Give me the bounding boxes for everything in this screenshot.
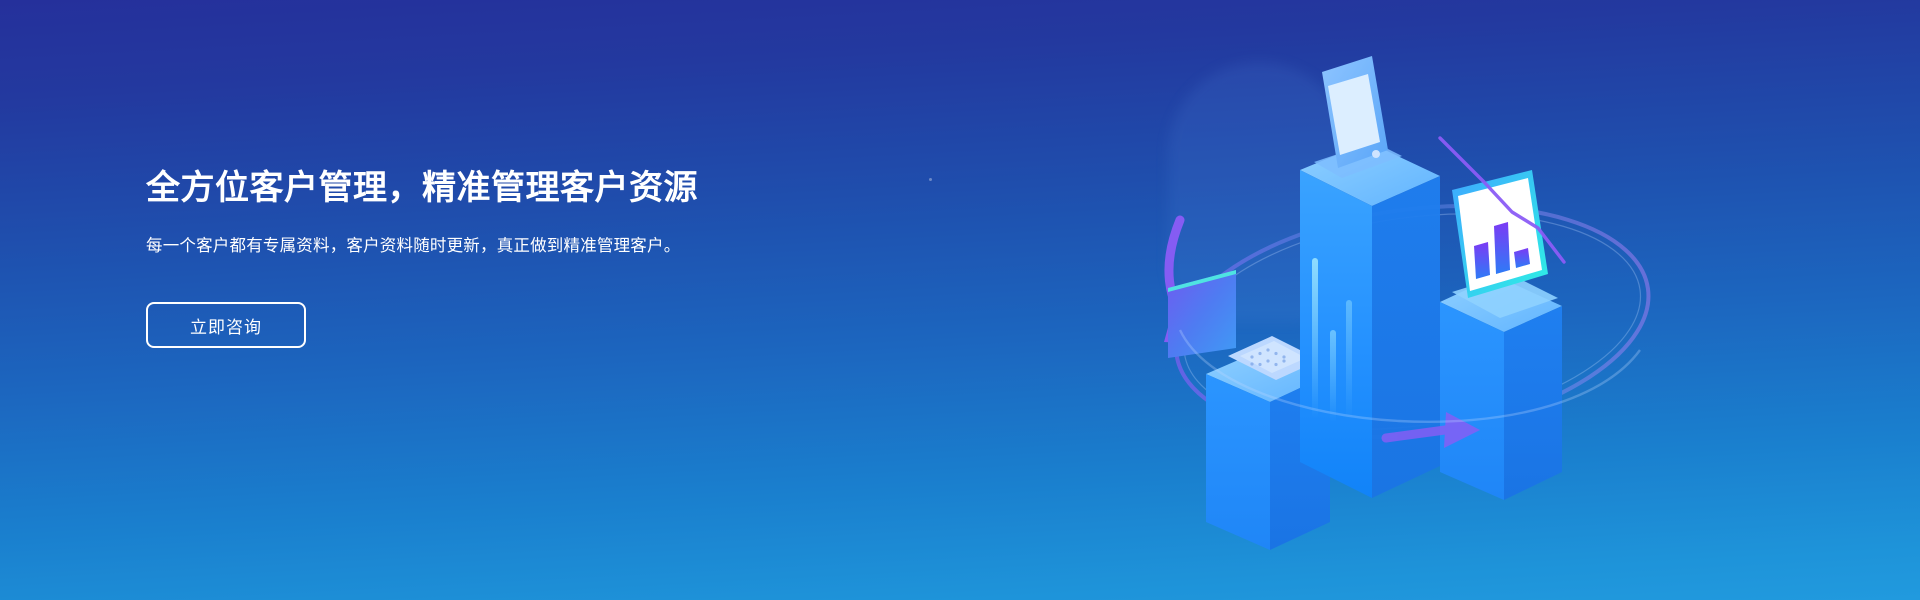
- tablet-icon: [1314, 56, 1402, 178]
- hero-copy-block: 全方位客户管理，精准管理客户资源 每一个客户都有专属资料，客户资料随时更新，真正…: [146, 168, 786, 348]
- background-speck: [929, 178, 932, 181]
- hero-illustration: [1140, 30, 1680, 570]
- consult-now-button[interactable]: 立即咨询: [146, 302, 306, 348]
- hero-subtitle: 每一个客户都有专属资料，客户资料随时更新，真正做到精准管理客户。: [146, 233, 736, 260]
- page-title: 全方位客户管理，精准管理客户资源: [146, 168, 786, 209]
- monitor-icon: [1452, 170, 1558, 318]
- hero-banner: 全方位客户管理，精准管理客户资源 每一个客户都有专属资料，客户资料随时更新，真正…: [0, 0, 1920, 600]
- center-pillar: [1300, 142, 1440, 498]
- laptop-icon: [1168, 270, 1320, 380]
